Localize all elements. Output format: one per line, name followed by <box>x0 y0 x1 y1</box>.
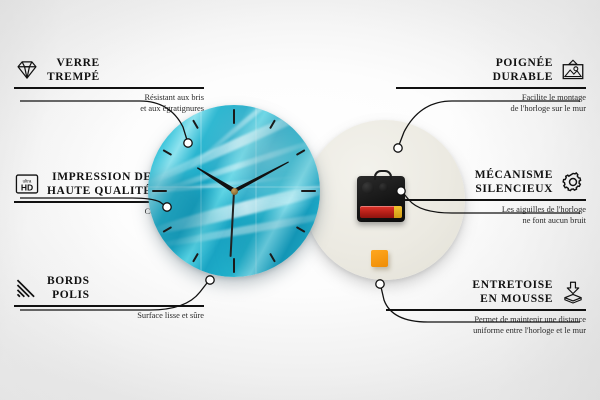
foam-spacer-pad <box>371 250 388 267</box>
callout-title-line2: HAUTE QUALITÉ <box>47 185 152 197</box>
callout-title-line2: TREMPÉ <box>47 71 100 83</box>
callout-title-line1: IMPRESSION DE <box>52 171 152 183</box>
mechanism-hanger-icon <box>374 170 392 180</box>
callout-rule <box>14 305 204 307</box>
callout-title-line1: ENTRETOISE <box>472 279 553 291</box>
clock-center-cap <box>231 188 238 195</box>
callout-poignee-durable[interactable]: POIGNÉE DURABLE Facilite le montage de l… <box>396 56 586 114</box>
mechanism-dial-large <box>362 182 374 194</box>
infographic-canvas: VERRE TREMPÉ Résistant aux bris et aux é… <box>0 0 600 400</box>
callout-rule <box>14 87 204 89</box>
clock-tick <box>192 253 199 263</box>
callout-sub-line1: Les aiguilles de l'horloge <box>502 205 586 214</box>
polished-edges-icon <box>14 276 40 300</box>
callout-mecanisme-silencieux[interactable]: MÉCANISME SILENCIEUX Les aiguilles de l'… <box>396 168 586 226</box>
battery <box>360 206 402 218</box>
callout-rule <box>386 309 586 311</box>
callout-title-line1: MÉCANISME <box>475 169 553 181</box>
callout-bords-polis[interactable]: BORDS POLIS Surface lisse et sûre <box>14 274 204 321</box>
callout-sub-line1: Facilite le montage <box>522 93 586 102</box>
diamond-icon <box>14 58 40 82</box>
callout-title-line2: EN MOUSSE <box>480 293 553 305</box>
ultra-hd-icon: ultra HD <box>14 172 40 196</box>
quartz-movement-mechanism <box>357 176 405 222</box>
face-shading <box>231 212 320 277</box>
mechanism-dial-small <box>379 183 388 192</box>
battery-positive-tip <box>394 206 402 218</box>
clock-tick <box>233 258 235 273</box>
callout-sub-line1: Permet de maintenir une distance <box>474 315 586 324</box>
callout-sub-line2: uniforme entre l'horloge et le mur <box>473 326 586 335</box>
callout-entretoise-en-mousse[interactable]: ENTRETOISE EN MOUSSE Permet de maintenir… <box>386 278 586 336</box>
callout-rule <box>396 87 586 89</box>
callout-title-line1: BORDS <box>47 275 90 287</box>
callout-sub-line1: Surface lisse et sûre <box>137 311 204 320</box>
callout-sub-line2: de l'horloge sur le mur <box>511 104 586 113</box>
svg-text:HD: HD <box>21 183 33 193</box>
foam-spacer-icon <box>560 280 586 304</box>
clock-face <box>148 105 320 277</box>
callout-sub-line1: Résistant aux bris <box>144 93 204 102</box>
callout-rule <box>396 199 586 201</box>
clock-tick <box>233 109 235 124</box>
callout-sub-line2: ne font aucun bruit <box>523 216 587 225</box>
callout-title-line2: DURABLE <box>493 71 553 83</box>
callout-title-line2: SILENCIEUX <box>475 183 553 195</box>
gear-icon <box>560 170 586 194</box>
clock-tick <box>162 149 172 156</box>
clock-tick <box>301 190 316 192</box>
clock-tick <box>152 190 167 192</box>
callout-title-line1: POIGNÉE <box>496 57 553 69</box>
callout-title-line2: POLIS <box>52 289 90 301</box>
callout-sub-line2: et aux égratignures <box>140 104 204 113</box>
callout-verre-trempe[interactable]: VERRE TREMPÉ Résistant aux bris et aux é… <box>14 56 204 114</box>
clock-tick <box>192 119 199 129</box>
callout-title-line1: VERRE <box>57 57 100 69</box>
picture-hanger-icon <box>560 58 586 82</box>
